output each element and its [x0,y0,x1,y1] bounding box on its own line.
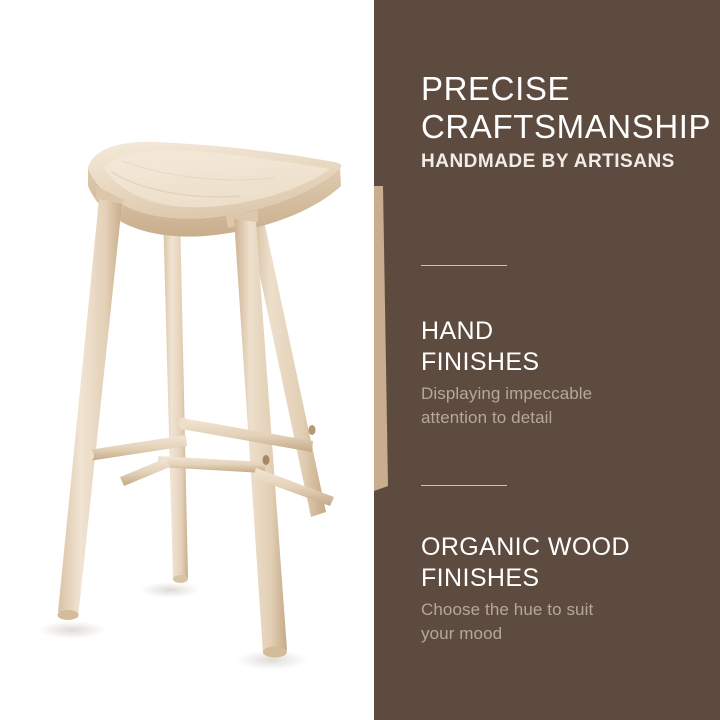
feature-block-hand-finishes: HAND FINISHES Displaying impeccable atte… [421,316,720,430]
page-subtitle: HANDMADE BY ARTISANS [421,150,720,173]
dowel-peg-lower [263,455,270,465]
floor-shadow-mid [140,582,200,598]
feature-body: Choose the hue to suit your mood [421,598,720,646]
product-feature-banner: PRECISE CRAFTSMANSHIP HANDMADE BY ARTISA… [0,0,720,720]
feature-title: ORGANIC WOOD FINISHES [421,532,720,594]
info-panel-content: PRECISE CRAFTSMANSHIP HANDMADE BY ARTISA… [421,0,720,720]
stretcher-brace-left [120,458,170,486]
floor-shadow-left [38,621,106,639]
section-divider-2 [421,485,507,486]
page-title: PRECISE CRAFTSMANSHIP [421,70,720,146]
product-image-area [0,0,374,720]
stool-leg-back-left [163,212,188,580]
feature-body: Displaying impeccable attention to detai… [421,382,720,430]
feature-title: HAND FINISHES [421,316,720,378]
feature-block-organic-wood-finishes: ORGANIC WOOD FINISHES Choose the hue to … [421,532,720,646]
wooden-stool-illustration [0,0,374,720]
info-panel: PRECISE CRAFTSMANSHIP HANDMADE BY ARTISA… [374,0,720,720]
section-divider-1 [421,265,507,266]
stool-leg-front-left [58,199,122,618]
dowel-peg-upper [309,425,316,435]
